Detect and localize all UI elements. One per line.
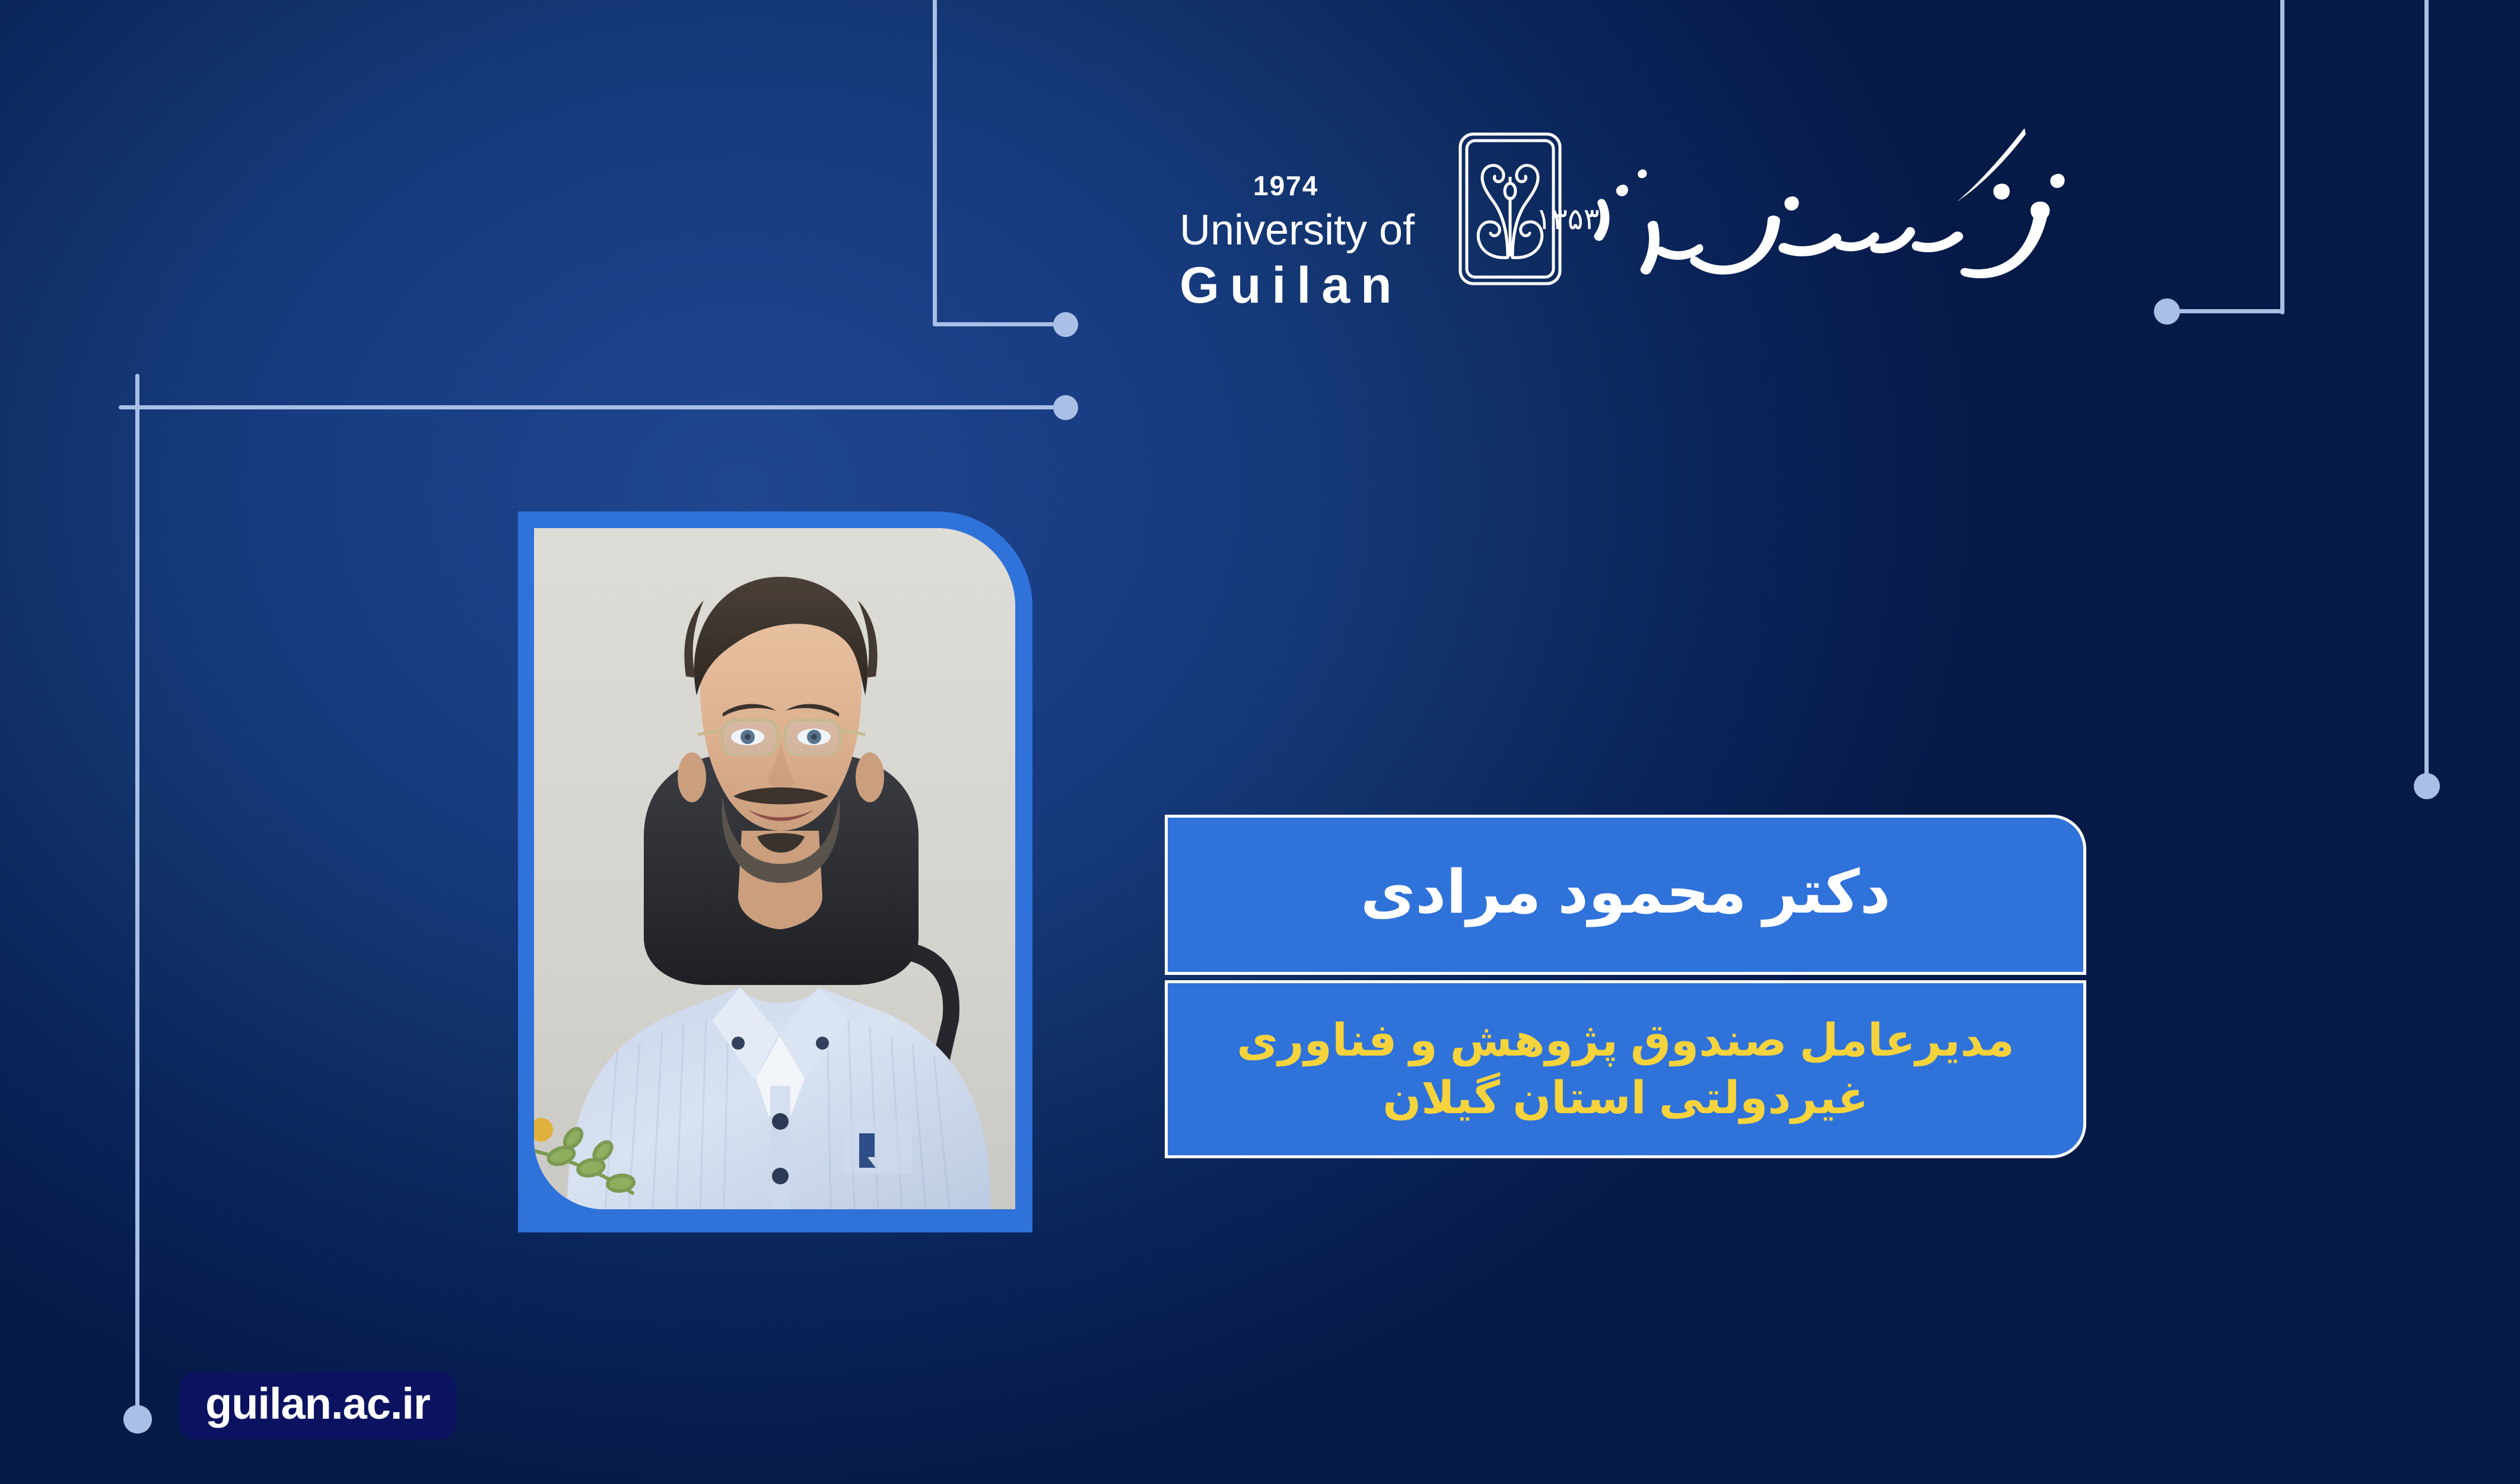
university-logo: 1974 University of Guilan ۱۳۵۳ <box>1157 178 2083 332</box>
deco-line-horizontal-long <box>119 405 1068 409</box>
deco-line-vertical-right-inner <box>2280 0 2284 314</box>
deco-line-horizontal-top-left <box>933 322 1057 326</box>
deco-line-horizontal-right <box>2167 309 2284 313</box>
person-name-banner: دکتر محمود مرادی <box>1165 815 2086 975</box>
deco-line-vertical-left <box>135 374 139 1418</box>
deco-line-vertical-right-outer <box>2424 0 2429 783</box>
portrait-frame <box>518 511 1032 1232</box>
portrait-photo <box>534 528 1015 1209</box>
website-badge[interactable]: guilan.ac.ir <box>179 1372 456 1439</box>
butterfly-emblem-icon <box>1457 132 1564 286</box>
deco-dot-bottom-left <box>123 1405 152 1434</box>
deco-dot-right-lower <box>2414 773 2440 799</box>
deco-line-vertical-top-left <box>933 0 937 326</box>
logo-name-english: University of Guilan <box>1180 209 1476 311</box>
logo-name-persian <box>1584 113 2071 291</box>
deco-dot-top-left <box>1053 312 1078 337</box>
person-name-text: دکتر محمود مرادی <box>1361 863 1890 927</box>
logo-year-gregorian: 1974 <box>1253 170 1318 202</box>
person-role-line2: غیردولتی استان گیلان <box>1383 1069 1868 1127</box>
deco-dot-horizontal-long-end <box>1053 395 1078 420</box>
deco-dot-right <box>2154 298 2180 325</box>
logo-name-english-line2: Guilan <box>1180 260 1476 311</box>
website-url-text: guilan.ac.ir <box>205 1382 430 1429</box>
logo-name-english-line1: University of <box>1180 209 1476 252</box>
poster-canvas: 1974 University of Guilan ۱۳۵۳ <box>0 0 2520 1484</box>
person-role-banner: مدیرعامل صندوق پژوهش و فناوری غیردولتی ا… <box>1165 980 2086 1158</box>
person-role-line1: مدیرعامل صندوق پژوهش و فناوری <box>1237 1012 2014 1069</box>
